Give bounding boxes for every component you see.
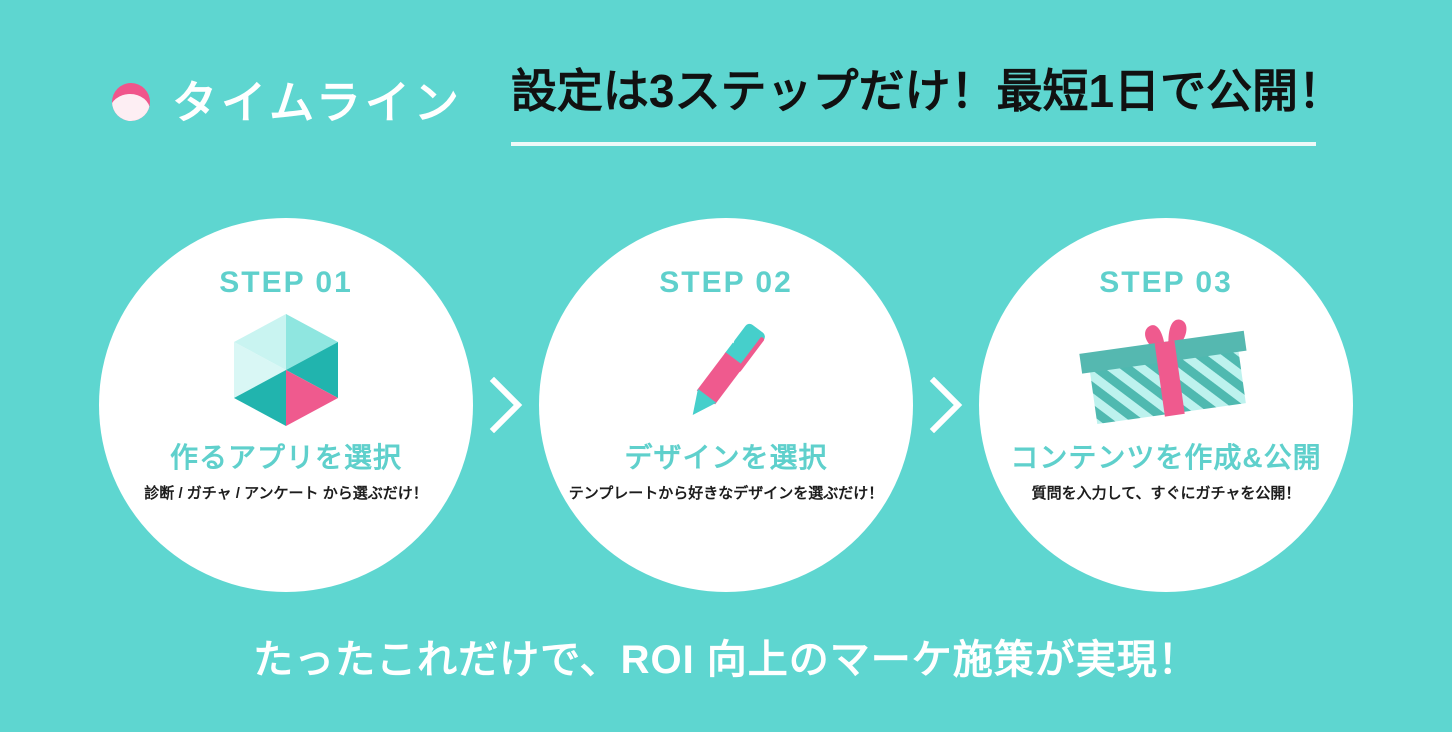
chevron-right-icon bbox=[929, 377, 963, 433]
step-separator-2 bbox=[913, 377, 979, 433]
timeline-logo-icon bbox=[112, 83, 150, 121]
step-card-02[interactable]: STEP 02 デザインを選択 テンプレートから好きなデザインを選ぶだけ！ bbox=[539, 218, 913, 592]
headline-underline bbox=[511, 142, 1316, 146]
gift-box-icon bbox=[1073, 314, 1259, 426]
step-separator-1 bbox=[473, 377, 539, 433]
step-label-03: STEP 03 bbox=[1099, 268, 1233, 298]
brand-block: タイムライン bbox=[112, 66, 463, 138]
hexagon-cube-icon bbox=[234, 314, 338, 426]
step-card-03[interactable]: STEP 03 bbox=[979, 218, 1353, 592]
banner-header: タイムライン 設定は3ステップだけ！最短1日で公開！ bbox=[112, 66, 1344, 138]
step-subtitle-03: 質問を入力して、すぐにガチャを公開！ bbox=[1032, 486, 1301, 501]
step-label-01: STEP 01 bbox=[219, 268, 353, 298]
pen-icon bbox=[674, 314, 778, 426]
step-art-01 bbox=[234, 312, 338, 428]
step-subtitle-01: 診断 / ガチャ / アンケート から選ぶだけ！ bbox=[144, 486, 427, 501]
chevron-right-icon bbox=[489, 377, 523, 433]
steps-row: STEP 01 作るアプリを選択 診断 / ガチャ / アンケート から選ぶだけ… bbox=[0, 218, 1452, 592]
timeline-promo-banner: タイムライン 設定は3ステップだけ！最短1日で公開！ STEP 01 作るアプ bbox=[0, 0, 1452, 732]
step-art-03 bbox=[1073, 312, 1259, 428]
step-art-02 bbox=[674, 312, 778, 428]
step-title-03: コンテンツを作成&公開 bbox=[1010, 444, 1321, 472]
brand-title: タイムライン bbox=[172, 80, 463, 125]
step-subtitle-02: テンプレートから好きなデザインを選ぶだけ！ bbox=[569, 486, 884, 501]
step-title-01: 作るアプリを選択 bbox=[170, 444, 402, 472]
step-card-01[interactable]: STEP 01 作るアプリを選択 診断 / ガチャ / アンケート から選ぶだけ… bbox=[99, 218, 473, 592]
headline-block: 設定は3ステップだけ！最短1日で公開！ bbox=[511, 66, 1344, 117]
step-title-02: デザインを選択 bbox=[624, 444, 827, 472]
footer-tagline: たったこれだけで、ROI 向上のマーケ施策が実現！ bbox=[0, 636, 1452, 684]
step-label-02: STEP 02 bbox=[659, 268, 793, 298]
headline-text: 設定は3ステップだけ！最短1日で公開！ bbox=[511, 66, 1344, 117]
